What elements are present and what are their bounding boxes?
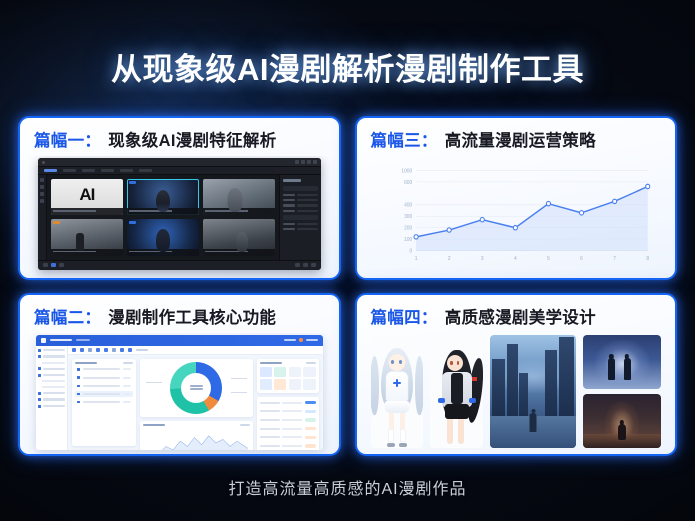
delete-icon[interactable] bbox=[96, 348, 100, 352]
editor-tab-strip[interactable] bbox=[38, 167, 321, 175]
area-panel-header bbox=[143, 424, 250, 427]
quick-action[interactable] bbox=[303, 367, 315, 377]
editor-left-rail[interactable] bbox=[38, 175, 47, 260]
card-three-tag: 篇幅三： bbox=[371, 127, 438, 151]
topbar-menu[interactable] bbox=[284, 339, 296, 341]
filter-icon[interactable] bbox=[104, 348, 108, 352]
sidebar-subitem[interactable] bbox=[38, 380, 65, 382]
donut-leader-line bbox=[231, 378, 247, 379]
list-item[interactable] bbox=[75, 399, 133, 405]
card-section-two[interactable]: 篇幅二： 漫剧制作工具核心功能 bbox=[18, 293, 341, 457]
effects-icon[interactable] bbox=[40, 199, 44, 203]
editor-statusbar[interactable] bbox=[38, 260, 321, 270]
svg-text:200: 200 bbox=[404, 225, 412, 231]
donut-leader-line bbox=[146, 382, 162, 383]
footer-tagline: 打造高流量高质感的AI漫剧作品 bbox=[0, 475, 695, 499]
svg-text:2: 2 bbox=[447, 256, 450, 262]
thumbnail-caption bbox=[203, 208, 275, 215]
card-two-title: 漫剧制作工具核心功能 bbox=[108, 304, 276, 328]
sidebar-item[interactable] bbox=[38, 349, 65, 352]
user-icon[interactable] bbox=[120, 348, 124, 352]
svg-text:100: 100 bbox=[404, 237, 412, 243]
list-panel-header bbox=[75, 362, 133, 365]
svg-text:8: 8 bbox=[646, 256, 649, 262]
ai-logo-text: AI bbox=[79, 186, 94, 203]
quick-action[interactable] bbox=[289, 367, 301, 377]
svg-text:600: 600 bbox=[404, 180, 412, 186]
edit-icon[interactable] bbox=[80, 348, 84, 352]
list-panel[interactable] bbox=[72, 359, 136, 447]
list-item-selected[interactable] bbox=[75, 391, 133, 397]
dashboard-app-name bbox=[50, 339, 72, 341]
panel-preview bbox=[283, 186, 318, 191]
svg-text:7: 7 bbox=[613, 256, 616, 262]
gallery-city-column bbox=[490, 335, 576, 449]
center-panels bbox=[140, 359, 253, 447]
art-gallery bbox=[371, 335, 662, 449]
donut-chart bbox=[170, 362, 222, 414]
media-thumbnail-selected[interactable] bbox=[127, 179, 199, 215]
scene-city-street[interactable] bbox=[490, 335, 576, 449]
svg-text:300: 300 bbox=[404, 214, 412, 220]
panel-heading bbox=[283, 179, 301, 182]
thumbnail-caption bbox=[127, 249, 199, 256]
card-one-tag: 篇幅一： bbox=[34, 127, 101, 151]
card-four-header: 篇幅四： 高质感漫剧美学设计 bbox=[357, 295, 676, 333]
audio-icon[interactable] bbox=[40, 185, 44, 189]
export-icon[interactable] bbox=[112, 348, 116, 352]
quick-action[interactable] bbox=[274, 379, 286, 389]
property-row[interactable] bbox=[283, 228, 318, 230]
card-section-four[interactable]: 篇幅四： 高质感漫剧美学设计 bbox=[355, 293, 678, 457]
svg-text:1000: 1000 bbox=[401, 168, 412, 174]
table-header-row bbox=[260, 400, 316, 406]
dashboard-toolbar[interactable] bbox=[68, 346, 323, 355]
card-three-header: 篇幅三： 高流量漫剧运营策略 bbox=[357, 118, 676, 156]
cross-emblem-icon bbox=[393, 379, 401, 387]
donut-chart-panel[interactable] bbox=[140, 359, 253, 417]
chart-svg: 1000600400300200100012345678 bbox=[383, 162, 656, 268]
status-table-panel[interactable] bbox=[257, 397, 319, 451]
scene-light-tunnel[interactable] bbox=[583, 335, 661, 389]
page-title: 从现象级AI漫剧解析漫剧制作工具 bbox=[111, 44, 584, 89]
editor-tab[interactable] bbox=[63, 169, 76, 172]
window-dot-icon bbox=[42, 161, 45, 164]
anime-character-black-jacket bbox=[431, 344, 483, 448]
play-icon[interactable] bbox=[43, 263, 48, 267]
media-thumbnail[interactable] bbox=[51, 219, 123, 255]
settings-icon[interactable] bbox=[128, 348, 132, 352]
quick-actions-panel[interactable] bbox=[257, 359, 319, 393]
editor-properties-panel[interactable] bbox=[279, 175, 321, 260]
editor-tab[interactable] bbox=[44, 169, 57, 172]
thumbnail-badge bbox=[53, 221, 60, 224]
editor-tab[interactable] bbox=[101, 169, 114, 172]
dashboard-topbar bbox=[36, 335, 323, 346]
quick-action[interactable] bbox=[289, 379, 301, 389]
dashboard-panels bbox=[68, 355, 323, 451]
quick-action[interactable] bbox=[274, 367, 286, 377]
gallery-scene-column bbox=[583, 335, 661, 449]
thumbnail-caption bbox=[127, 208, 199, 215]
app-logo-icon bbox=[41, 338, 46, 343]
card-grid: 篇幅一： 现象级AI漫剧特征解析 bbox=[18, 116, 677, 456]
panel-block bbox=[283, 215, 318, 220]
dashboard-sidebar[interactable] bbox=[36, 346, 68, 451]
svg-text:4: 4 bbox=[514, 256, 517, 262]
property-row[interactable] bbox=[283, 194, 318, 196]
dashboard-screenshot bbox=[36, 335, 323, 451]
property-row[interactable] bbox=[283, 199, 318, 201]
right-panels bbox=[257, 359, 319, 447]
card-one-header: 篇幅一： 现象级AI漫剧特征解析 bbox=[20, 118, 339, 156]
card-one-title: 现象级AI漫剧特征解析 bbox=[108, 127, 276, 151]
mini-area-chart bbox=[143, 429, 250, 450]
traffic-growth-chart: 1000600400300200100012345678 bbox=[383, 162, 656, 268]
quick-action[interactable] bbox=[303, 379, 315, 389]
donut-leader-line bbox=[231, 392, 247, 393]
thumbnail-badge bbox=[129, 221, 136, 224]
quick-action-grid[interactable] bbox=[260, 367, 316, 390]
svg-text:6: 6 bbox=[580, 256, 583, 262]
area-chart-panel[interactable] bbox=[140, 421, 253, 451]
svg-text:3: 3 bbox=[480, 256, 483, 262]
sidebar-subitem[interactable] bbox=[38, 362, 65, 364]
copy-icon[interactable] bbox=[88, 348, 92, 352]
text-icon[interactable] bbox=[40, 192, 44, 196]
thumbnail-badge bbox=[129, 181, 136, 184]
thumbnail-caption bbox=[203, 249, 275, 256]
sidebar-item[interactable] bbox=[38, 398, 65, 401]
media-thumbnail[interactable]: AI bbox=[51, 179, 123, 215]
card-section-one[interactable]: 篇幅一： 现象级AI漫剧特征解析 bbox=[18, 116, 341, 280]
editor-window-controls[interactable] bbox=[295, 160, 317, 164]
thumbnail-caption bbox=[51, 208, 123, 215]
sidebar-subitem[interactable] bbox=[38, 386, 65, 388]
dashboard-breadcrumb bbox=[76, 339, 90, 341]
card-four-title: 高质感漫剧美学设计 bbox=[445, 304, 596, 328]
user-name bbox=[306, 339, 318, 341]
svg-text:0: 0 bbox=[409, 248, 412, 254]
avatar[interactable] bbox=[299, 338, 303, 342]
card-two-tag: 篇幅二： bbox=[34, 304, 101, 328]
gallery-character-white[interactable] bbox=[371, 335, 424, 449]
svg-text:5: 5 bbox=[547, 256, 550, 262]
property-row[interactable] bbox=[283, 204, 318, 206]
thumbnail-caption bbox=[51, 249, 123, 256]
gallery-character-dark[interactable] bbox=[430, 335, 483, 449]
anime-character-white-blue bbox=[374, 344, 420, 448]
dashboard-main bbox=[36, 346, 323, 451]
new-icon[interactable] bbox=[72, 348, 76, 352]
media-thumbnail[interactable] bbox=[127, 219, 199, 255]
card-three-body: 1000600400300200100012345678 bbox=[357, 156, 676, 278]
dashboard-content bbox=[68, 346, 323, 451]
editor-titlebar bbox=[38, 158, 321, 167]
table-row[interactable] bbox=[260, 434, 316, 440]
editor-tab[interactable] bbox=[82, 169, 95, 172]
quick-panel-header bbox=[260, 362, 316, 365]
card-section-three[interactable]: 篇幅三： 高流量漫剧运营策略 1000600400300200100012345… bbox=[355, 116, 678, 280]
table-row[interactable] bbox=[260, 417, 316, 423]
card-three-title: 高流量漫剧运营策略 bbox=[445, 127, 596, 151]
card-two-header: 篇幅二： 漫剧制作工具核心功能 bbox=[20, 295, 339, 333]
svg-text:1: 1 bbox=[414, 256, 417, 262]
sidebar-item[interactable] bbox=[38, 392, 65, 395]
stop-icon[interactable] bbox=[59, 263, 64, 267]
sidebar-item[interactable] bbox=[38, 374, 65, 377]
media-thumbnail-grid[interactable]: AI bbox=[47, 175, 279, 260]
card-four-tag: 篇幅四： bbox=[371, 304, 438, 328]
dashboard-topbar-right[interactable] bbox=[284, 338, 318, 342]
editor-tab[interactable] bbox=[120, 169, 133, 172]
list-item[interactable] bbox=[75, 383, 133, 389]
record-icon[interactable] bbox=[51, 263, 56, 267]
media-icon[interactable] bbox=[40, 178, 44, 182]
title-area: 从现象级AI漫剧解析漫剧制作工具 bbox=[0, 44, 695, 89]
svg-text:400: 400 bbox=[404, 203, 412, 209]
video-editor-screenshot: AI bbox=[38, 158, 321, 270]
flag-patch-icon bbox=[472, 377, 477, 381]
list-item[interactable] bbox=[75, 375, 133, 381]
card-one-body: AI bbox=[20, 156, 339, 278]
sidebar-item[interactable] bbox=[38, 367, 65, 370]
media-thumbnail[interactable] bbox=[203, 219, 275, 255]
donut-center-label bbox=[190, 385, 203, 391]
sidebar-item[interactable] bbox=[38, 405, 65, 408]
table-row[interactable] bbox=[260, 408, 316, 414]
card-four-body bbox=[357, 333, 676, 455]
list-item[interactable] bbox=[75, 367, 133, 373]
quick-action[interactable] bbox=[260, 379, 272, 389]
sidebar-item[interactable] bbox=[38, 355, 65, 358]
statusbar-right[interactable] bbox=[295, 263, 316, 267]
quick-action[interactable] bbox=[260, 367, 272, 377]
editor-tab[interactable] bbox=[139, 169, 152, 172]
property-row[interactable] bbox=[283, 223, 318, 225]
scene-warm-corridor[interactable] bbox=[583, 394, 661, 448]
toolbar-label bbox=[136, 349, 148, 351]
media-thumbnail[interactable] bbox=[203, 179, 275, 215]
table-row[interactable] bbox=[260, 426, 316, 432]
card-two-body bbox=[20, 333, 339, 455]
editor-main: AI bbox=[38, 175, 321, 260]
property-row[interactable] bbox=[283, 210, 318, 212]
table-row[interactable] bbox=[260, 443, 316, 449]
